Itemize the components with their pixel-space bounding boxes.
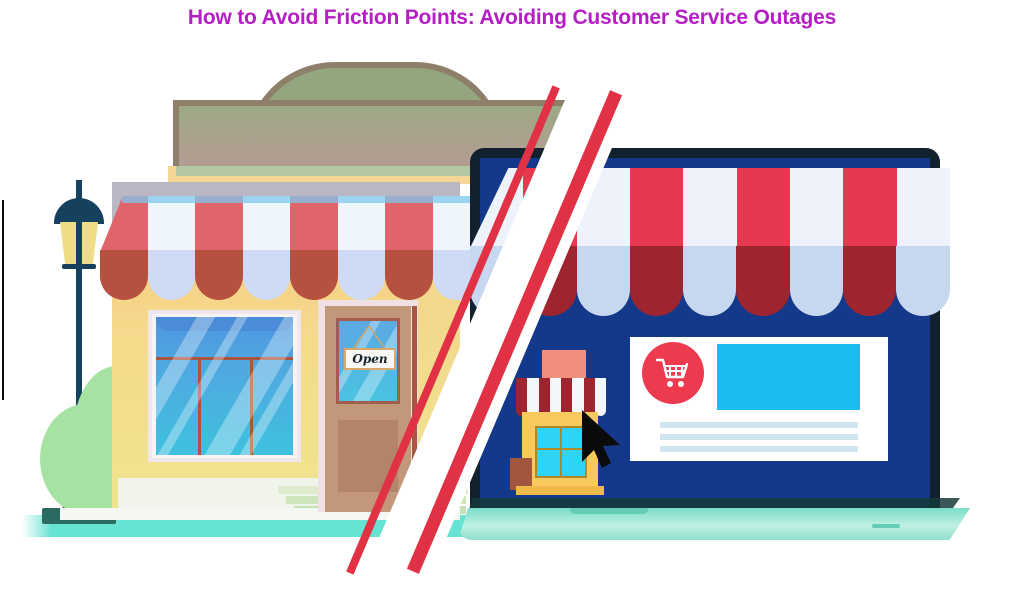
text-line bbox=[660, 434, 858, 440]
mini-awning-stripe bbox=[550, 378, 561, 416]
awning-scallop bbox=[148, 250, 196, 300]
awning-stripe bbox=[577, 168, 630, 248]
awning-scallop bbox=[523, 246, 576, 316]
illustration-canvas: How to Avoid Friction Points: Avoiding C… bbox=[0, 0, 1024, 601]
awning-stripe bbox=[148, 196, 196, 252]
text-line bbox=[660, 422, 858, 428]
awning-scallop bbox=[896, 246, 949, 316]
awning-stripe bbox=[195, 196, 243, 252]
awning-scallop bbox=[470, 246, 523, 316]
physical-storefront-scene: Open bbox=[0, 0, 520, 601]
display-window-glass bbox=[156, 317, 293, 455]
awning-scallop bbox=[790, 246, 843, 316]
awning-scallop bbox=[243, 250, 291, 300]
awning-scallops bbox=[470, 246, 950, 316]
mini-awning-stripe bbox=[527, 378, 538, 416]
awning-scallop bbox=[100, 250, 148, 300]
open-sign: Open bbox=[344, 348, 396, 370]
awning-stripe bbox=[385, 196, 433, 252]
awning-scallop bbox=[630, 246, 683, 316]
awning-scallop bbox=[736, 246, 789, 316]
mini-awning-stripe bbox=[516, 378, 527, 416]
awning-stripe bbox=[290, 196, 338, 252]
awning-stripe bbox=[338, 196, 386, 252]
awning-stripe bbox=[243, 196, 291, 252]
awning-scallop bbox=[385, 250, 433, 300]
mini-shop-base bbox=[516, 486, 604, 495]
awning-scallop bbox=[338, 250, 386, 300]
awning-stripe bbox=[683, 168, 736, 248]
open-sign-string bbox=[349, 326, 389, 350]
storefront-awning bbox=[100, 196, 480, 300]
hero-image-placeholder bbox=[717, 344, 860, 410]
laptop-base-notch bbox=[570, 508, 648, 514]
laptop-base-dash bbox=[872, 524, 900, 528]
awning-canopy bbox=[470, 168, 950, 248]
door-jamb bbox=[412, 306, 417, 512]
mini-shop-window-mullion-v bbox=[560, 426, 562, 478]
awning-scallop bbox=[195, 250, 243, 300]
awning-stripe bbox=[790, 168, 843, 248]
awning-stripe bbox=[630, 168, 683, 248]
awning-stripe bbox=[737, 168, 790, 248]
text-line bbox=[660, 446, 858, 452]
awning-stripe bbox=[523, 168, 576, 248]
awning-stripe bbox=[100, 196, 148, 252]
awning-stripe bbox=[897, 168, 950, 248]
awning-stripe bbox=[843, 168, 896, 248]
awning-top-accent bbox=[122, 196, 480, 203]
awning-scallop bbox=[290, 250, 338, 300]
awning-scallop bbox=[843, 246, 896, 316]
awning-scallop bbox=[683, 246, 736, 316]
mini-awning-stripe bbox=[539, 378, 550, 416]
open-sign-label: Open bbox=[352, 353, 387, 365]
shopping-cart-icon bbox=[656, 357, 690, 389]
awning-scallop bbox=[577, 246, 630, 316]
mouse-cursor-icon bbox=[578, 408, 624, 470]
window-valance bbox=[156, 317, 293, 331]
door-lower-panel bbox=[338, 420, 398, 492]
mini-awning-stripe bbox=[561, 378, 572, 416]
awning-stripe bbox=[470, 168, 523, 248]
online-store-scene bbox=[470, 0, 1024, 601]
awning-scallops bbox=[100, 250, 480, 300]
online-store-awning bbox=[470, 168, 950, 328]
window-mullion-left bbox=[198, 357, 201, 455]
awning-canopy bbox=[100, 196, 480, 252]
